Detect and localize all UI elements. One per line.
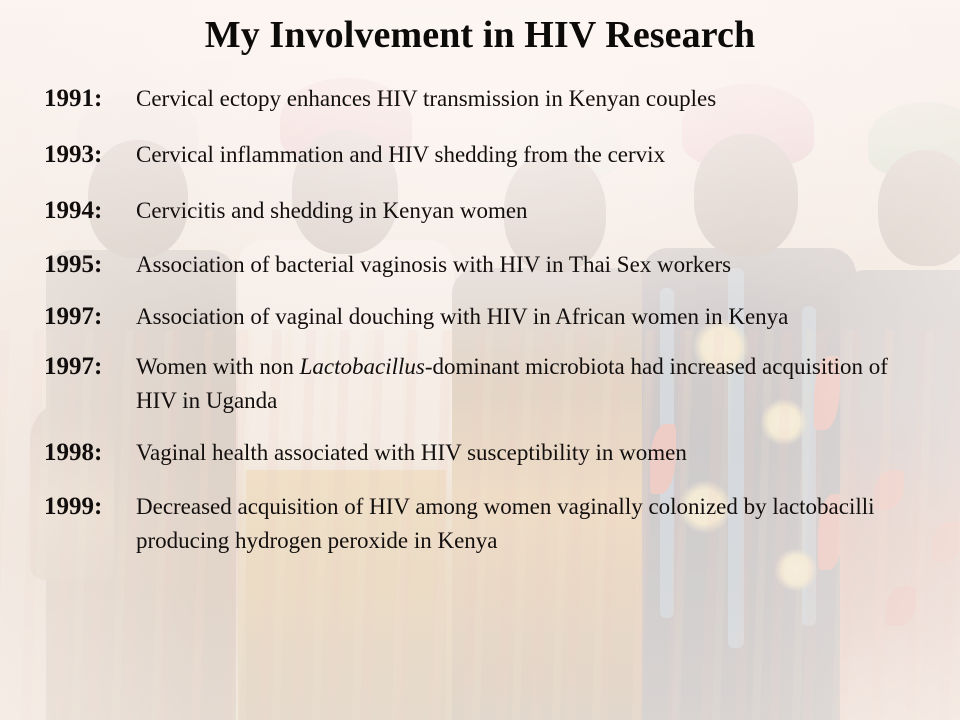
- entry-description: Cervicitis and shedding in Kenyan women: [136, 194, 926, 228]
- entry-description: Decreased acquisition of HIV among women…: [136, 490, 926, 558]
- timeline-entry: 1991: Cervical ectopy enhances HIV trans…: [44, 82, 944, 116]
- entry-year: 1997:: [44, 350, 136, 384]
- entry-description: Women with non Lactobacillus-dominant mi…: [136, 350, 926, 418]
- timeline-entry: 1999: Decreased acquisition of HIV among…: [44, 490, 944, 558]
- slide-content: My Involvement in HIV Research 1991: Cer…: [0, 0, 960, 720]
- timeline-entry: 1997: Association of vaginal douching wi…: [44, 300, 944, 334]
- entry-description: Association of bacterial vaginosis with …: [136, 248, 926, 282]
- entry-description: Cervical ectopy enhances HIV transmissio…: [136, 82, 926, 116]
- entry-year: 1991:: [44, 82, 136, 116]
- slide-title: My Involvement in HIV Research: [0, 16, 960, 56]
- entry-year: 1997:: [44, 300, 136, 334]
- timeline-entry: 1997: Women with non Lactobacillus-domin…: [44, 350, 944, 418]
- presentation-slide: My Involvement in HIV Research 1991: Cer…: [0, 0, 960, 720]
- entry-year: 1995:: [44, 248, 136, 282]
- entry-description: Cervical inflammation and HIV shedding f…: [136, 138, 926, 172]
- entry-year: 1994:: [44, 194, 136, 228]
- timeline-entry: 1993: Cervical inflammation and HIV shed…: [44, 138, 944, 172]
- timeline-entry: 1994: Cervicitis and shedding in Kenyan …: [44, 194, 944, 228]
- entry-description: Association of vaginal douching with HIV…: [136, 300, 926, 334]
- entry-year: 1993:: [44, 138, 136, 172]
- entry-description: Vaginal health associated with HIV susce…: [136, 436, 926, 470]
- timeline-list: 1991: Cervical ectopy enhances HIV trans…: [44, 82, 944, 558]
- timeline-entry: 1998: Vaginal health associated with HIV…: [44, 436, 944, 470]
- entry-year: 1999:: [44, 490, 136, 524]
- timeline-entry: 1995: Association of bacterial vaginosis…: [44, 248, 944, 282]
- entry-year: 1998:: [44, 436, 136, 470]
